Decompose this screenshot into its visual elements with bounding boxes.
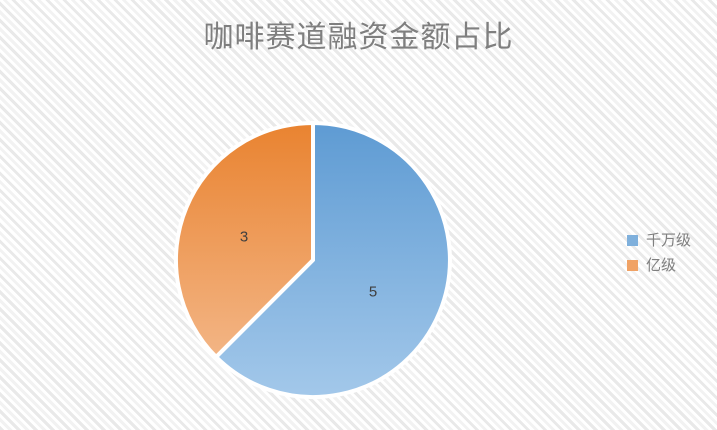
pie-svg: [173, 120, 453, 400]
legend-label-qianwanji: 千万级: [646, 233, 691, 248]
pie-label-yiji: 3: [240, 229, 248, 246]
legend-item-yiji[interactable]: 亿级: [627, 253, 715, 278]
pie-label-qianwanji: 5: [369, 284, 377, 301]
legend: 千万级 亿级: [627, 228, 715, 278]
pie-chart-figure: 咖啡赛道融资金额占比 5 3 千万级: [0, 0, 717, 430]
chart-title: 咖啡赛道融资金额占比: [0, 18, 717, 58]
legend-swatch-icon-qianwanji: [627, 235, 638, 246]
legend-item-qianwanji[interactable]: 千万级: [627, 228, 715, 253]
pie-plot-area: 5 3: [173, 120, 453, 400]
legend-label-yiji: 亿级: [646, 258, 676, 273]
legend-swatch-icon-yiji: [627, 260, 638, 271]
